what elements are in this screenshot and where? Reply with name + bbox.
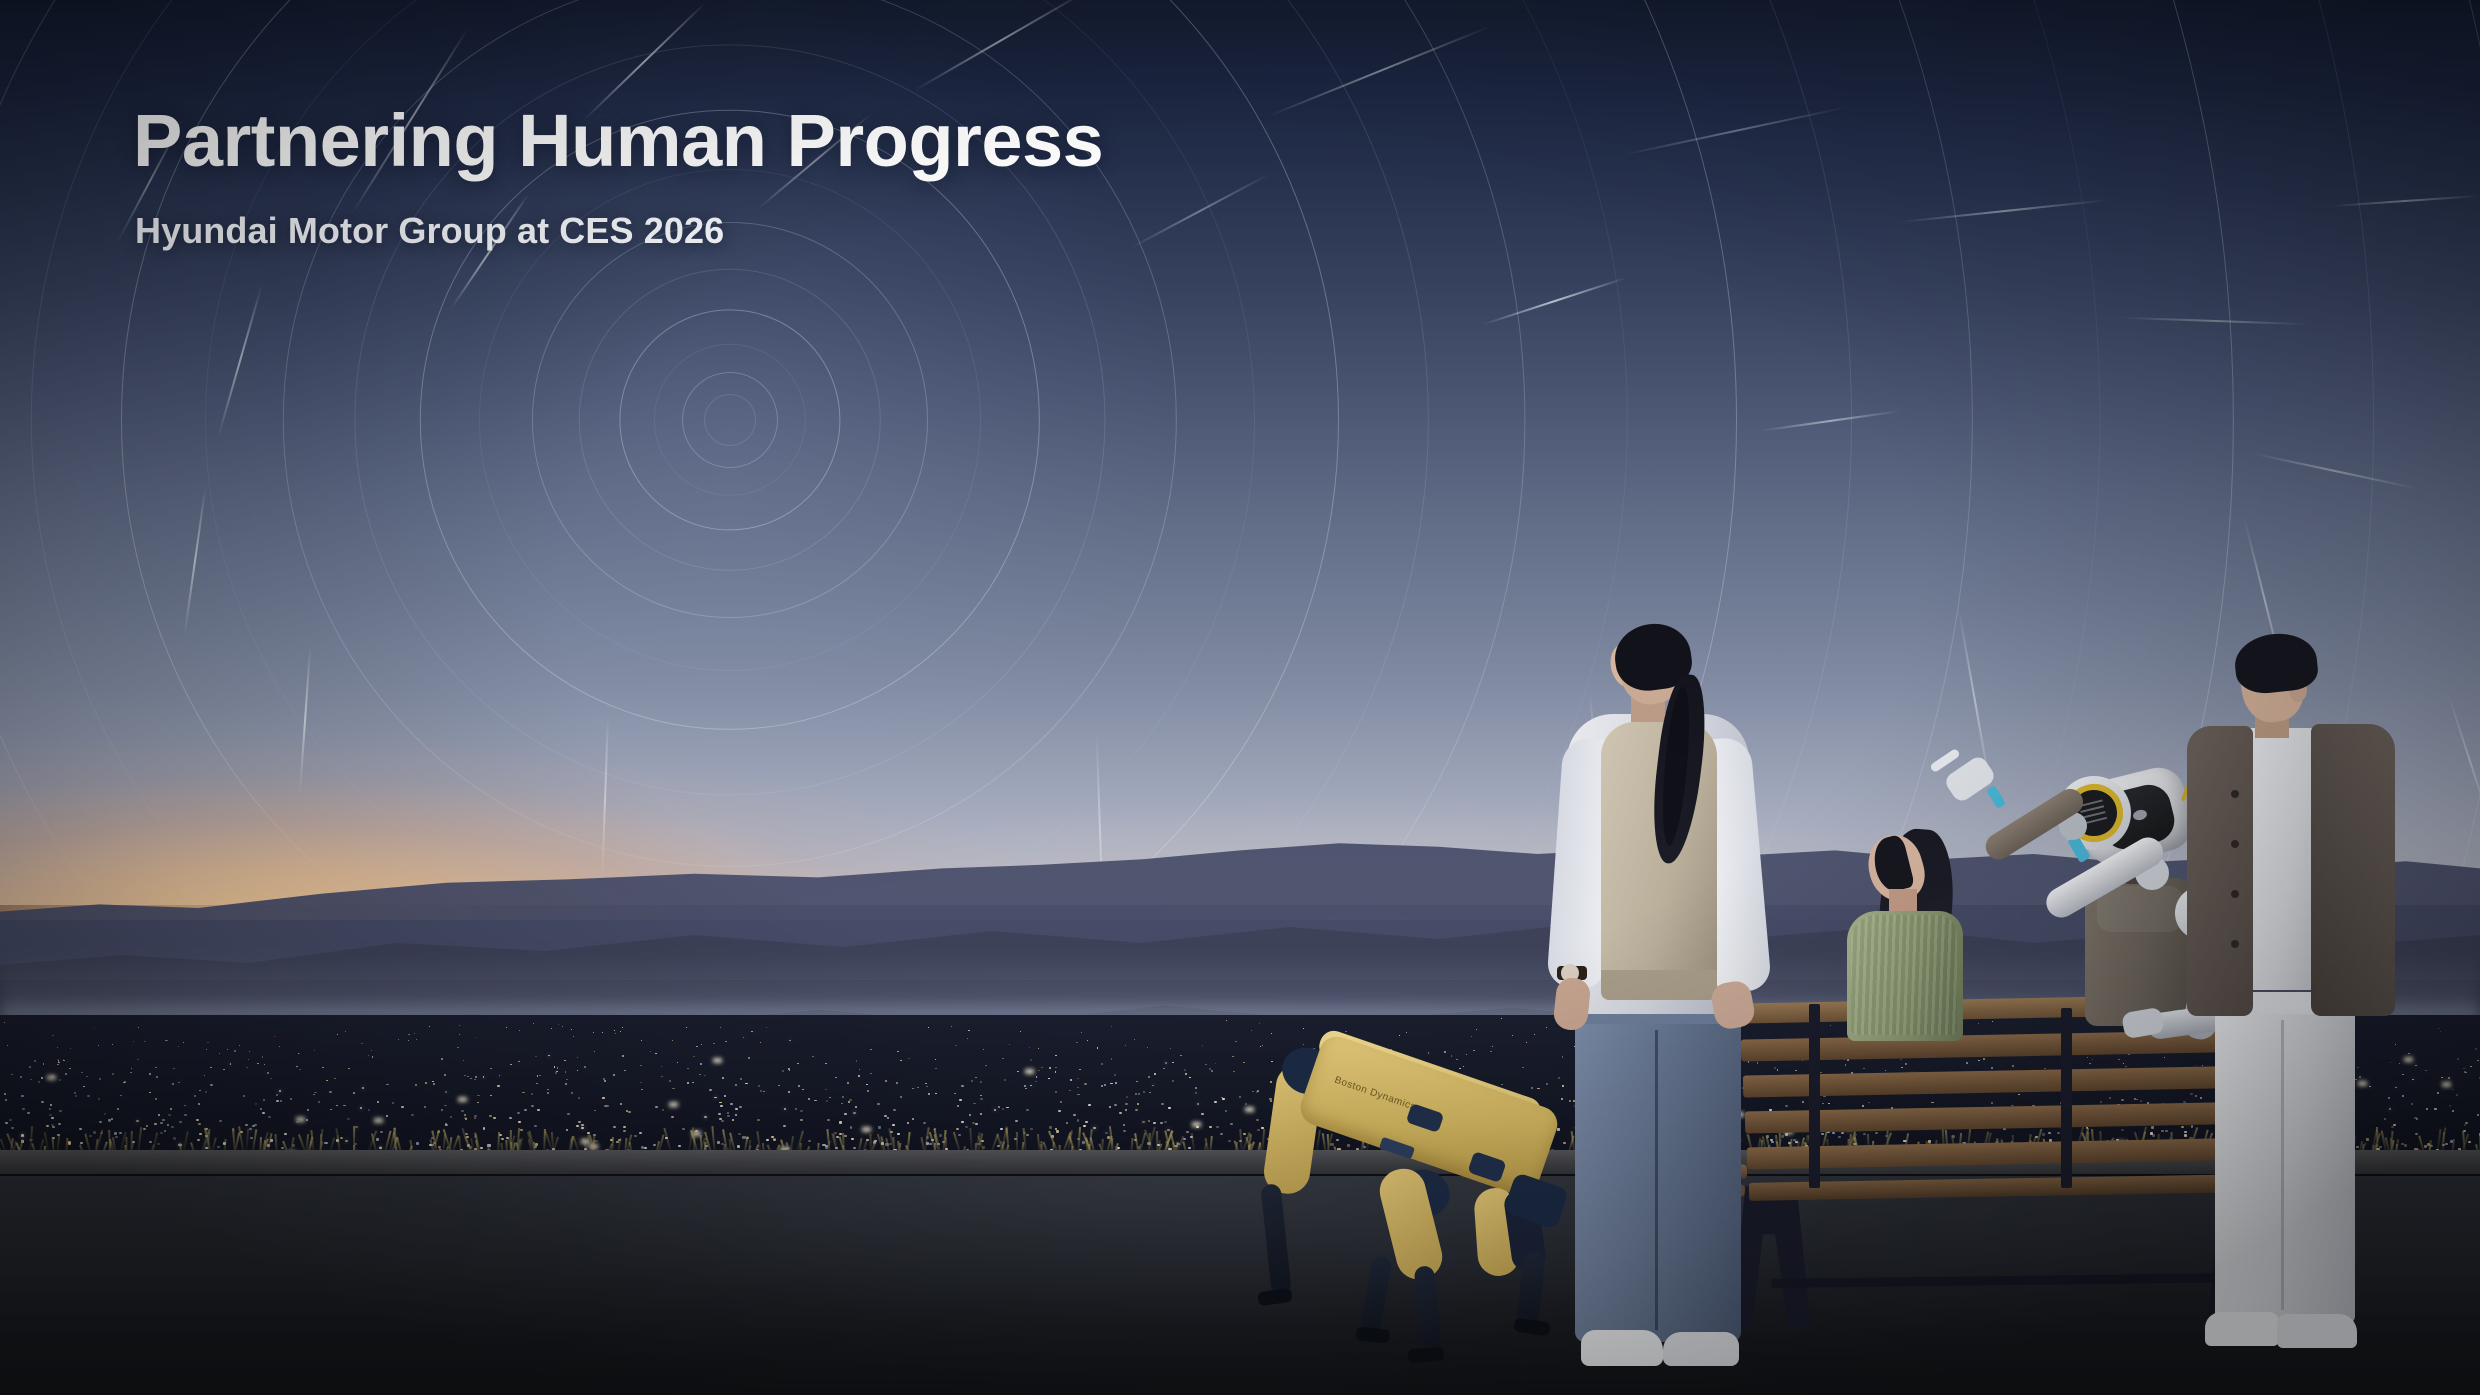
- city-light: [223, 1069, 225, 1070]
- city-light: [20, 1076, 22, 1078]
- city-light: [735, 1108, 738, 1110]
- city-light: [2441, 1077, 2443, 1079]
- city-light: [1137, 1103, 1139, 1105]
- city-light: [162, 1119, 165, 1121]
- city-light: [577, 1057, 579, 1058]
- city-light: [720, 1105, 723, 1107]
- city-light-cluster: [2404, 1057, 2413, 1062]
- city-light: [897, 1051, 899, 1052]
- city-light: [721, 1120, 724, 1122]
- man-cardigan-button-1: [2231, 790, 2239, 798]
- city-light: [573, 1036, 574, 1037]
- city-light: [1161, 1103, 1163, 1105]
- city-light: [536, 1083, 538, 1085]
- city-light: [345, 1031, 346, 1032]
- city-light: [735, 1084, 737, 1086]
- man-cardigan-left-panel: [2187, 726, 2253, 1016]
- city-light: [1148, 1120, 1151, 1122]
- city-light: [1170, 1048, 1171, 1049]
- city-light: [1006, 1107, 1009, 1109]
- city-light: [951, 1026, 952, 1027]
- city-light: [620, 1103, 622, 1105]
- city-light: [578, 1121, 581, 1123]
- city-light: [858, 1075, 860, 1076]
- city-light: [1184, 1069, 1186, 1070]
- city-light: [57, 1047, 58, 1048]
- city-light: [1185, 1073, 1187, 1074]
- city-light: [866, 1084, 868, 1086]
- city-light: [900, 1060, 902, 1061]
- city-light: [343, 1105, 346, 1107]
- city-light: [330, 1109, 333, 1111]
- city-light: [719, 1102, 721, 1104]
- city-light: [926, 1086, 928, 1088]
- city-light: [1024, 1085, 1026, 1087]
- city-light: [63, 1060, 65, 1061]
- man-cardigan-right-panel: [2311, 724, 2395, 1016]
- city-light: [650, 1051, 652, 1052]
- city-light: [571, 1092, 573, 1094]
- city-light: [957, 1105, 960, 1107]
- city-light: [763, 1091, 765, 1093]
- city-light: [298, 1053, 300, 1054]
- city-light: [973, 1103, 975, 1105]
- city-light: [117, 1108, 120, 1110]
- city-light: [826, 1100, 828, 1102]
- city-light: [699, 1074, 701, 1075]
- city-light: [722, 1077, 724, 1079]
- city-light: [464, 1117, 467, 1119]
- woman-jeans: [1575, 998, 1741, 1342]
- city-light: [173, 1068, 175, 1069]
- city-light: [81, 1072, 83, 1073]
- city-light: [847, 1082, 849, 1084]
- city-light: [353, 1092, 355, 1094]
- city-light-cluster: [713, 1058, 722, 1063]
- bench-backrest-post-1: [1809, 1004, 1820, 1188]
- city-light: [219, 1120, 222, 1122]
- city-light: [425, 1082, 427, 1084]
- city-light: [1077, 1087, 1079, 1089]
- city-light: [955, 1045, 956, 1046]
- city-light: [887, 1117, 890, 1119]
- city-light: [86, 1076, 88, 1077]
- city-light: [50, 1104, 52, 1106]
- city-light: [788, 1091, 790, 1093]
- city-light: [248, 1059, 250, 1060]
- city-light: [377, 1101, 379, 1103]
- city-light: [1197, 1103, 1199, 1105]
- city-light: [510, 1064, 512, 1065]
- city-light: [2470, 1066, 2472, 1067]
- city-light: [57, 1064, 59, 1065]
- city-light: [641, 1040, 642, 1041]
- city-light: [408, 1034, 409, 1035]
- city-light: [2452, 1110, 2455, 1112]
- city-light: [290, 1098, 292, 1100]
- city-light: [2448, 1077, 2450, 1079]
- city-light: [194, 1095, 196, 1097]
- city-light: [38, 1081, 40, 1083]
- city-light: [562, 1026, 563, 1027]
- city-light: [827, 1119, 830, 1121]
- city-light: [179, 1121, 182, 1123]
- city-light: [735, 1114, 738, 1116]
- city-light: [155, 1098, 157, 1100]
- city-light: [459, 1025, 460, 1026]
- woman-shoe-left: [1581, 1330, 1663, 1366]
- city-light: [2463, 1068, 2465, 1069]
- city-light: [183, 1042, 184, 1043]
- robot-dog-foot-mid: [1408, 1347, 1445, 1363]
- city-light: [296, 1066, 298, 1067]
- city-light: [178, 1046, 179, 1047]
- city-light: [692, 1082, 694, 1084]
- city-light: [693, 1056, 695, 1057]
- city-light: [1153, 1122, 1156, 1124]
- city-light: [59, 1110, 62, 1112]
- city-light: [662, 1109, 665, 1111]
- city-light: [604, 1105, 607, 1107]
- city-light: [155, 1067, 157, 1068]
- city-light: [743, 1037, 744, 1038]
- city-light: [21, 1095, 23, 1097]
- city-light: [1245, 1103, 1247, 1105]
- man-shoe-left: [2205, 1312, 2279, 1346]
- city-light: [959, 1099, 961, 1101]
- city-light: [59, 1079, 61, 1081]
- city-light: [578, 1097, 580, 1099]
- city-light: [120, 1095, 122, 1097]
- city-light: [1111, 1026, 1112, 1027]
- city-light: [640, 1065, 642, 1066]
- city-light: [724, 1095, 726, 1097]
- city-light: [980, 1081, 982, 1083]
- city-light: [2426, 1108, 2429, 1110]
- city-light: [709, 1089, 711, 1091]
- city-light: [444, 1105, 447, 1107]
- city-light: [1172, 1080, 1174, 1082]
- city-light: [980, 1113, 983, 1115]
- city-light: [257, 1063, 259, 1064]
- city-light: [539, 1075, 541, 1076]
- city-light: [669, 1080, 671, 1082]
- city-light: [700, 1063, 702, 1064]
- city-light: [1055, 1067, 1057, 1068]
- city-light-cluster: [47, 1075, 56, 1080]
- city-light: [704, 1116, 707, 1118]
- city-light: [444, 1074, 446, 1075]
- city-light: [441, 1109, 444, 1111]
- city-light: [1251, 1030, 1252, 1031]
- city-light: [565, 1071, 567, 1072]
- city-light: [730, 1103, 732, 1105]
- city-light: [531, 1093, 533, 1095]
- city-light: [704, 1075, 706, 1076]
- city-light: [566, 1079, 568, 1081]
- city-light: [263, 1099, 265, 1101]
- city-light: [69, 1068, 71, 1069]
- city-light: [661, 1076, 663, 1077]
- city-light: [961, 1085, 963, 1087]
- robot-dog-shin-mid: [1414, 1265, 1443, 1353]
- city-light: [411, 1114, 414, 1116]
- city-light: [980, 1098, 982, 1100]
- man-cardigan-button-2: [2231, 840, 2239, 848]
- city-light: [2415, 1065, 2417, 1066]
- city-light: [196, 1119, 199, 1121]
- city-light: [1226, 1020, 1227, 1021]
- city-light: [701, 1044, 702, 1045]
- city-light: [262, 1112, 265, 1114]
- city-light: [392, 1102, 394, 1104]
- city-light: [727, 1112, 730, 1114]
- city-light: [361, 1043, 362, 1044]
- city-light: [429, 1026, 430, 1027]
- city-light: [1201, 1113, 1204, 1115]
- city-light: [477, 1102, 479, 1104]
- city-light: [87, 1095, 89, 1097]
- woman-standing: [1545, 630, 1785, 1390]
- city-light: [30, 1079, 32, 1081]
- city-light: [758, 1085, 760, 1087]
- city-light: [524, 1109, 527, 1111]
- city-light: [1058, 1110, 1061, 1112]
- city-light: [825, 1063, 827, 1064]
- city-light: [445, 1091, 447, 1093]
- city-light: [1232, 1056, 1234, 1057]
- city-light: [75, 1095, 77, 1097]
- city-light: [243, 1095, 245, 1097]
- city-light: [2475, 1048, 2476, 1049]
- city-light: [686, 1027, 687, 1028]
- city-light: [661, 1066, 663, 1067]
- city-light: [2411, 1103, 2413, 1105]
- city-light: [1115, 1082, 1117, 1084]
- city-light: [7, 1045, 8, 1046]
- city-light: [230, 1063, 232, 1064]
- city-light: [867, 1090, 869, 1092]
- city-light: [67, 1061, 69, 1062]
- city-light: [1070, 1079, 1072, 1081]
- city-light: [602, 1097, 604, 1099]
- city-light: [465, 1118, 468, 1120]
- city-light: [205, 1091, 207, 1093]
- city-light: [1049, 1067, 1051, 1068]
- city-light: [347, 1118, 350, 1120]
- city-light: [603, 1078, 605, 1080]
- city-light: [1134, 1039, 1135, 1040]
- city-light: [210, 1067, 212, 1068]
- city-light: [1214, 1101, 1216, 1103]
- city-light: [908, 1058, 910, 1059]
- city-light: [855, 1106, 858, 1108]
- city-light: [1211, 1070, 1213, 1071]
- city-light: [329, 1091, 331, 1093]
- man-shoe-right: [2277, 1314, 2357, 1348]
- city-light: [206, 1049, 207, 1050]
- city-light: [467, 1076, 469, 1077]
- city-light: [1233, 1071, 1235, 1072]
- city-light: [371, 1050, 372, 1051]
- city-light: [204, 1075, 206, 1076]
- city-light: [165, 1040, 166, 1041]
- city-light: [565, 1083, 567, 1085]
- city-light: [841, 1103, 843, 1105]
- city-light: [133, 1041, 134, 1042]
- city-light-cluster: [2442, 1082, 2451, 1087]
- city-light: [1002, 1108, 1005, 1110]
- city-light: [111, 1118, 114, 1120]
- city-light: [313, 1094, 315, 1096]
- city-light: [537, 1109, 540, 1111]
- city-light: [554, 1066, 556, 1067]
- city-light: [1189, 1077, 1191, 1079]
- page-subtitle: Hyundai Motor Group at CES 2026: [135, 210, 724, 252]
- city-light: [2438, 1028, 2439, 1029]
- robot-chest-panel: [2097, 886, 2183, 932]
- city-light: [1030, 1085, 1032, 1087]
- city-light: [518, 1061, 520, 1062]
- city-light: [1048, 1078, 1050, 1080]
- city-light: [967, 1038, 968, 1039]
- city-light: [760, 1042, 761, 1043]
- city-light: [912, 1118, 915, 1120]
- city-light: [1195, 1092, 1197, 1094]
- city-light: [1066, 1122, 1069, 1124]
- city-light: [416, 1039, 417, 1040]
- city-light: [718, 1113, 721, 1115]
- city-light: [870, 1073, 872, 1074]
- city-light: [571, 1029, 572, 1030]
- city-light: [499, 1075, 501, 1076]
- city-light: [655, 1053, 657, 1054]
- city-light: [696, 1046, 697, 1047]
- city-light: [751, 1031, 752, 1032]
- city-light: [2457, 1058, 2459, 1059]
- city-light: [825, 1089, 827, 1091]
- city-light: [51, 1117, 54, 1119]
- city-light: [784, 1108, 787, 1110]
- city-light: [925, 1083, 927, 1085]
- city-light: [470, 1078, 472, 1080]
- city-light: [337, 1034, 338, 1035]
- city-light: [714, 1097, 716, 1099]
- city-light: [1152, 1085, 1154, 1087]
- city-light: [29, 1066, 31, 1067]
- city-light: [928, 1027, 929, 1028]
- city-light: [475, 1076, 477, 1078]
- city-light: [849, 1099, 851, 1101]
- city-light: [184, 1114, 187, 1116]
- city-light: [1076, 1042, 1077, 1043]
- city-light: [74, 1092, 76, 1094]
- city-light: [1055, 1055, 1057, 1056]
- city-light: [414, 1033, 415, 1034]
- city-light: [1168, 1107, 1171, 1109]
- city-light: [555, 1072, 557, 1073]
- city-light: [1077, 1094, 1079, 1096]
- city-light: [788, 1068, 790, 1069]
- man-hair: [2232, 630, 2320, 696]
- city-light: [602, 1032, 603, 1033]
- city-light: [144, 1041, 145, 1042]
- robot-dog-shin-front-left: [1359, 1255, 1392, 1335]
- city-light: [969, 1114, 972, 1116]
- city-light: [368, 1109, 371, 1111]
- city-light: [655, 1106, 658, 1108]
- city-light: [812, 1056, 814, 1057]
- city-light: [1126, 1096, 1128, 1098]
- city-light: [1149, 1092, 1151, 1094]
- city-light: [713, 1043, 714, 1044]
- city-light-cluster: [669, 1102, 678, 1107]
- city-light: [279, 1090, 281, 1092]
- city-light: [2452, 1089, 2454, 1091]
- city-light: [22, 1108, 25, 1110]
- city-light: [441, 1058, 443, 1059]
- city-light: [408, 1040, 409, 1041]
- city-light: [483, 1076, 485, 1078]
- city-light: [131, 1068, 133, 1069]
- city-light: [797, 1063, 799, 1064]
- city-light: [1029, 1047, 1030, 1048]
- city-light: [802, 1089, 804, 1091]
- city-light: [1143, 1091, 1145, 1093]
- city-light: [829, 1097, 831, 1099]
- city-light: [5, 1099, 7, 1101]
- city-light: [1154, 1073, 1156, 1074]
- city-light: [985, 1065, 987, 1066]
- city-light: [1165, 1062, 1167, 1063]
- city-light: [620, 1031, 621, 1032]
- city-light: [1085, 1121, 1088, 1123]
- city-light: [489, 1115, 492, 1117]
- city-light: [671, 1116, 674, 1118]
- girl-seated: [1845, 835, 2025, 1035]
- city-light: [782, 1070, 784, 1071]
- city-light: [280, 1100, 282, 1102]
- city-light: [98, 1098, 100, 1100]
- city-light: [260, 1108, 263, 1110]
- city-light: [1004, 1079, 1006, 1081]
- city-light: [108, 1119, 111, 1121]
- city-light: [1077, 1078, 1079, 1080]
- city-light: [255, 1103, 257, 1105]
- city-light: [1172, 1062, 1174, 1063]
- city-light: [490, 1095, 492, 1097]
- city-light: [246, 1067, 248, 1068]
- city-light: [99, 1121, 102, 1123]
- city-light: [270, 1078, 272, 1080]
- city-light: [322, 1067, 324, 1068]
- city-light: [34, 1060, 36, 1061]
- robot-dog-foot-rear-left: [1257, 1288, 1293, 1307]
- city-light: [1073, 1114, 1076, 1116]
- city-light: [1148, 1076, 1150, 1078]
- city-light: [720, 1027, 721, 1028]
- city-light: [1035, 1081, 1037, 1083]
- city-light: [276, 1100, 278, 1102]
- city-light: [1077, 1119, 1080, 1121]
- city-light: [475, 1037, 476, 1038]
- city-light: [789, 1070, 791, 1071]
- city-light: [672, 1088, 674, 1090]
- city-light: [99, 1078, 101, 1080]
- city-light: [1097, 1047, 1098, 1048]
- city-light: [917, 1087, 919, 1089]
- city-light: [1101, 1085, 1103, 1087]
